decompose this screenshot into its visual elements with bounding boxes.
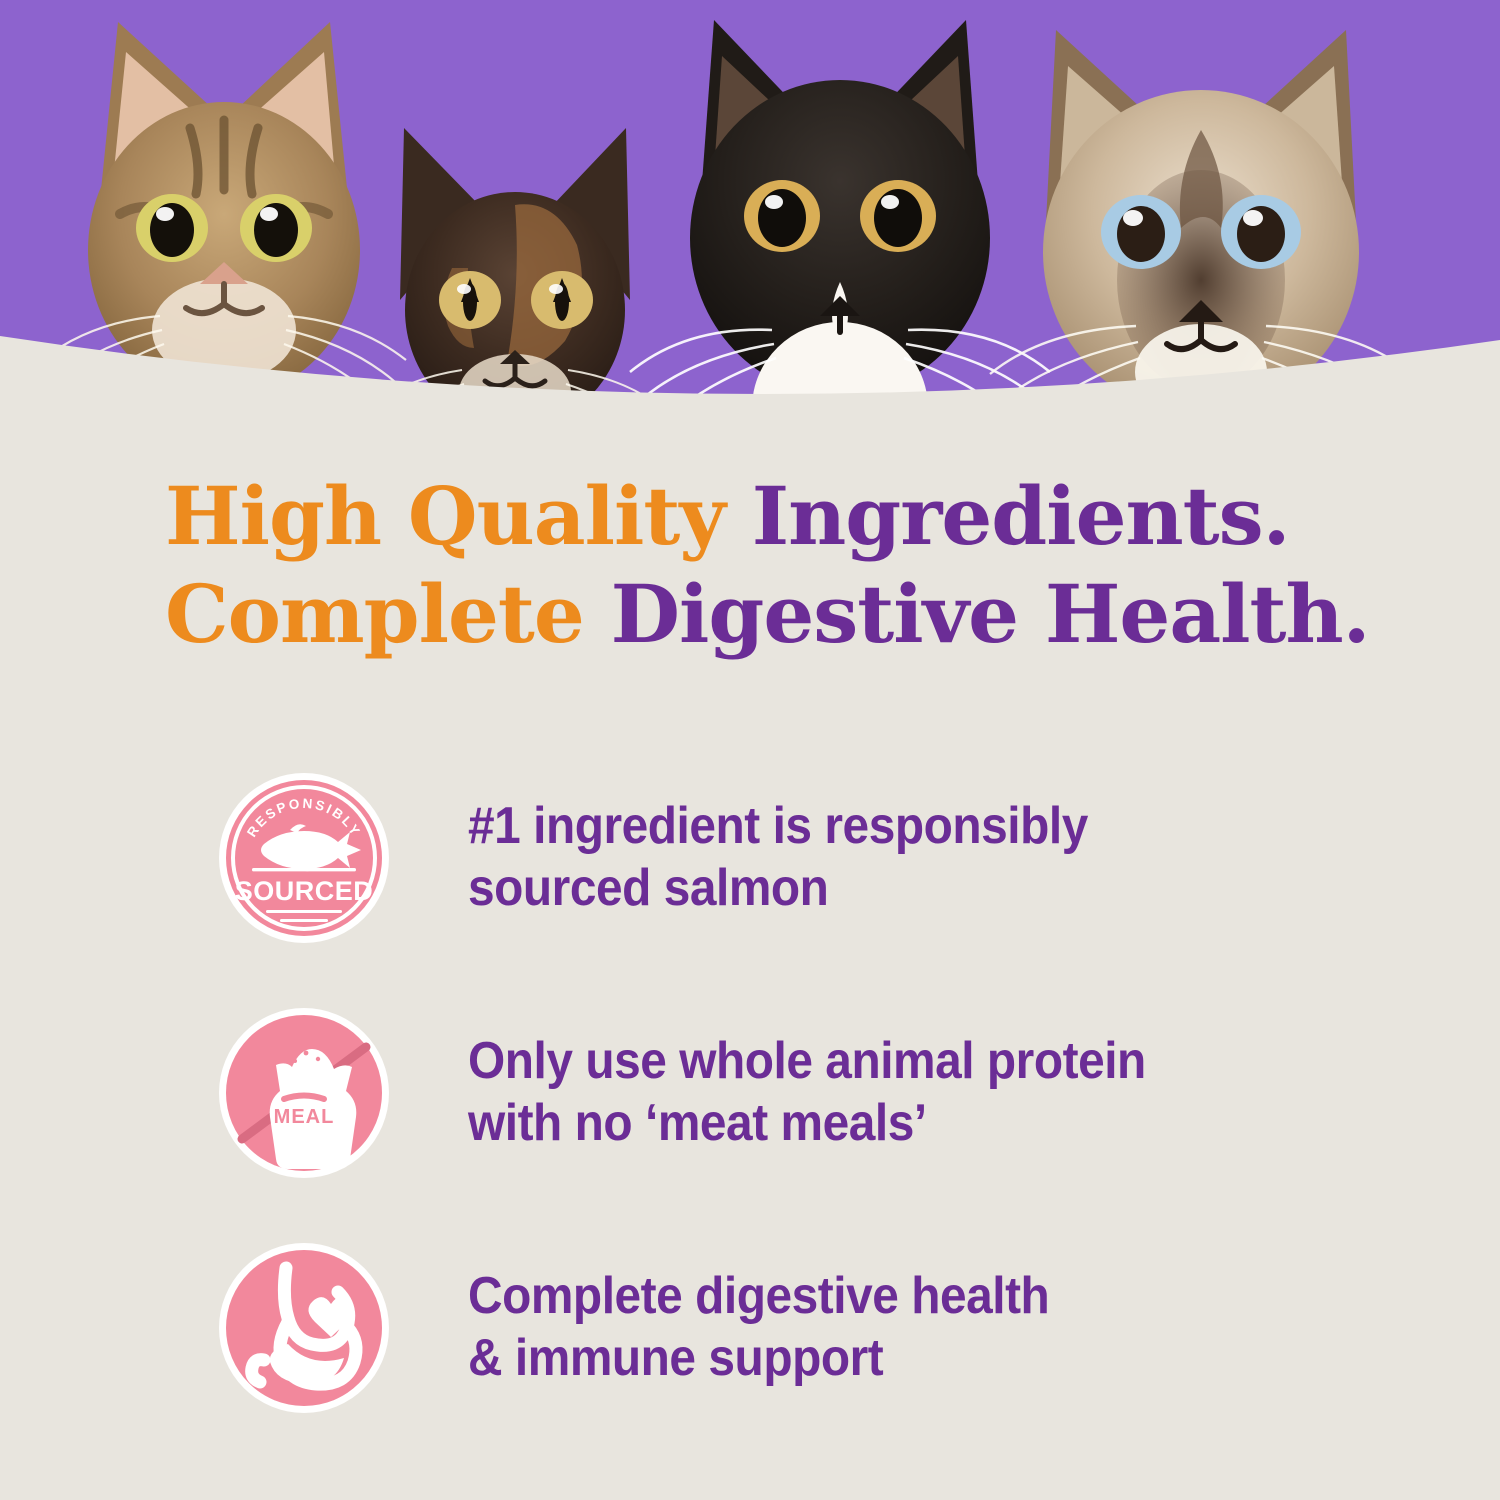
headline-line-1-orange: High Quality xyxy=(165,469,752,563)
hero-banner xyxy=(0,0,1500,430)
no-meat-meal-bag-icon: MEAL xyxy=(218,1007,390,1179)
bag-label: MEAL xyxy=(274,1106,335,1128)
stomach-heart-digestive-icon xyxy=(218,1242,390,1414)
feature-item: MEAL Only use whole animal protein with … xyxy=(218,995,1438,1190)
page-title: High Quality Ingredients. Complete Diges… xyxy=(165,468,1435,663)
product-feature-page: High Quality Ingredients. Complete Diges… xyxy=(0,0,1500,1500)
responsibly-sourced-fish-badge-icon: RESPONSIBLY SOURCED xyxy=(218,772,390,944)
headline-line-1-purple: Ingredients. xyxy=(752,469,1290,563)
feature-item: Complete digestive health & immune suppo… xyxy=(218,1230,1438,1425)
headline-line-2: Complete Digestive Health. xyxy=(165,566,1435,664)
headline-line-1: High Quality Ingredients. xyxy=(165,468,1435,566)
feature-text: #1 ingredient is responsibly sourced sal… xyxy=(468,796,1088,919)
headline-line-2-orange: Complete xyxy=(165,567,611,661)
feature-list: RESPONSIBLY SOURCED #1 ingredient is res… xyxy=(218,760,1438,1425)
headline-line-2-purple: Digestive Health. xyxy=(611,567,1370,661)
cream-curve-divider xyxy=(0,300,1500,430)
feature-item: RESPONSIBLY SOURCED #1 ingredient is res… xyxy=(218,760,1438,955)
badge-main-text: SOURCED xyxy=(235,876,374,906)
feature-text: Complete digestive health & immune suppo… xyxy=(468,1266,1049,1389)
feature-text: Only use whole animal protein with no ‘m… xyxy=(468,1031,1146,1154)
